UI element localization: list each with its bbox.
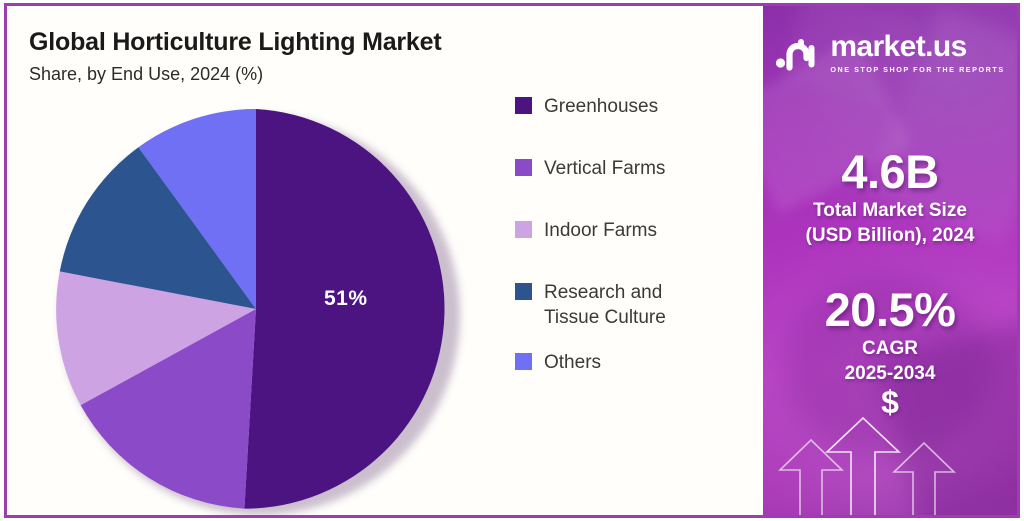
- infographic-frame: Global Horticulture Lighting Market Shar…: [4, 3, 1020, 518]
- legend-swatch-icon: [515, 97, 532, 114]
- legend-label: Research and: [544, 282, 662, 303]
- chart-panel: Global Horticulture Lighting Market Shar…: [7, 6, 763, 515]
- brand-logo-tagline: ONE STOP SHOP FOR THE REPORTS: [830, 65, 1004, 74]
- cagr-value: 20.5%: [763, 284, 1017, 336]
- cagr-caption-line1: CAGR: [763, 336, 1017, 361]
- pie-svg: [56, 109, 456, 509]
- page-subtitle: Share, by End Use, 2024 (%): [29, 64, 263, 85]
- legend-label: Others: [544, 350, 601, 375]
- arrow-right: [894, 443, 954, 515]
- legend-label: Indoor Farms: [544, 218, 657, 243]
- market-size-caption-line1: Total Market Size: [763, 198, 1017, 223]
- brand-logo-text: market.us: [830, 32, 1004, 62]
- legend-label-line2: Tissue Culture: [544, 307, 666, 328]
- legend-item-research-tissue-culture[interactable]: Research and Tissue Culture: [515, 280, 745, 330]
- brand-logo[interactable]: market.us ONE STOP SHOP FOR THE REPORTS: [763, 32, 1017, 74]
- pie-data-label-greenhouses: 51%: [324, 287, 368, 311]
- cagr-stat: 20.5% CAGR 2025-2034: [763, 284, 1017, 386]
- legend-swatch-icon: [515, 283, 532, 300]
- market-size-caption-line2: (USD Billion), 2024: [763, 223, 1017, 248]
- pie-chart: 51%: [56, 109, 464, 517]
- dollar-sign-icon: $: [763, 384, 1017, 421]
- brand-logo-text-wrap: market.us ONE STOP SHOP FOR THE REPORTS: [830, 32, 1004, 74]
- growth-arrows: $: [763, 380, 1017, 515]
- legend-item-indoor-farms[interactable]: Indoor Farms: [515, 218, 745, 243]
- chart-legend: Greenhouses Vertical Farms Indoor Farms …: [515, 94, 745, 412]
- legend-swatch-icon: [515, 159, 532, 176]
- market-size-value: 4.6B: [763, 146, 1017, 198]
- page-title: Global Horticulture Lighting Market: [29, 28, 441, 57]
- legend-item-others[interactable]: Others: [515, 350, 745, 375]
- legend-label: Greenhouses: [544, 94, 658, 119]
- market-size-stat: 4.6B Total Market Size (USD Billion), 20…: [763, 146, 1017, 248]
- legend-swatch-icon: [515, 353, 532, 370]
- legend-item-greenhouses[interactable]: Greenhouses: [515, 94, 745, 119]
- legend-item-vertical-farms[interactable]: Vertical Farms: [515, 156, 745, 181]
- infographic-root: Global Horticulture Lighting Market Shar…: [0, 0, 1024, 521]
- legend-label: Vertical Farms: [544, 156, 665, 181]
- brand-panel: market.us ONE STOP SHOP FOR THE REPORTS …: [763, 6, 1017, 515]
- legend-swatch-icon: [515, 221, 532, 238]
- market-us-logo-icon: [775, 33, 821, 73]
